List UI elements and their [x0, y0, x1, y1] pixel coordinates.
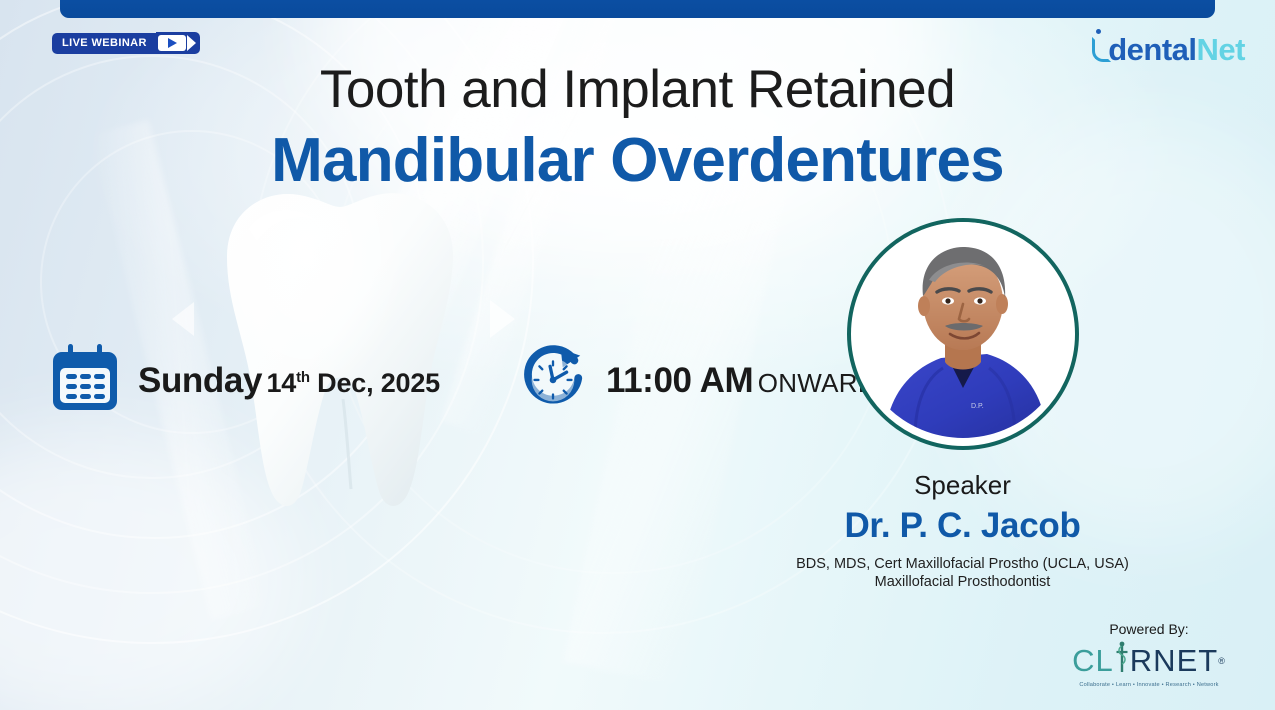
clirnet-text-rnet: RNET — [1130, 644, 1218, 678]
triangle-right-icon — [490, 300, 515, 338]
powered-by-label: Powered By: — [1059, 620, 1239, 638]
date-block: Sunday 14th Dec, 2025 — [50, 342, 440, 419]
clock-icon — [518, 342, 588, 419]
svg-text:D.P.: D.P. — [971, 403, 984, 410]
triangle-left-icon — [172, 302, 194, 336]
caduceus-icon — [1114, 640, 1130, 681]
schedule-row: Sunday 14th Dec, 2025 — [50, 342, 895, 419]
webinar-date-label: 14th Dec, 2025 — [266, 368, 440, 398]
speaker-block: D.P. Speaker Dr. P. C. Jacob BDS, MDS, C… — [790, 218, 1135, 591]
headline-line-2: Mandibular Overdentures — [0, 124, 1275, 198]
speaker-name: Dr. P. C. Jacob — [790, 506, 1135, 546]
webinar-day-label: Sunday — [138, 361, 262, 400]
calendar-icon — [50, 342, 120, 419]
webinar-poster: LIVE WEBINAR dental Net Tooth and Implan… — [0, 0, 1275, 710]
speaker-role-label: Speaker — [790, 470, 1135, 500]
video-camera-icon — [156, 32, 200, 54]
logo-i-mark-icon — [1092, 26, 1108, 60]
live-webinar-badge[interactable]: LIVE WEBINAR — [52, 32, 200, 54]
clirnet-text-cl: CL — [1072, 644, 1114, 678]
speaker-credentials-line-2: Maxillofacial Prosthodontist — [790, 573, 1135, 591]
headline-block: Tooth and Implant Retained Mandibular Ov… — [0, 58, 1275, 198]
top-accent-bar — [60, 0, 1215, 18]
powered-by-block: Powered By: CL RNET ® Collaborate • Lear… — [1059, 620, 1239, 688]
speaker-avatar: D.P. — [847, 218, 1079, 450]
headline-line-1: Tooth and Implant Retained — [0, 58, 1275, 122]
webinar-time-label: 11:00 AM — [606, 361, 753, 400]
live-webinar-label: LIVE WEBINAR — [52, 33, 156, 54]
clirnet-logo[interactable]: CL RNET ® — [1059, 640, 1239, 681]
registered-mark: ® — [1218, 644, 1226, 678]
clirnet-tagline: Collaborate • Learn • Innovate • Researc… — [1059, 682, 1239, 688]
speaker-credentials-line-1: BDS, MDS, Cert Maxillofacial Prostho (UC… — [790, 555, 1135, 573]
